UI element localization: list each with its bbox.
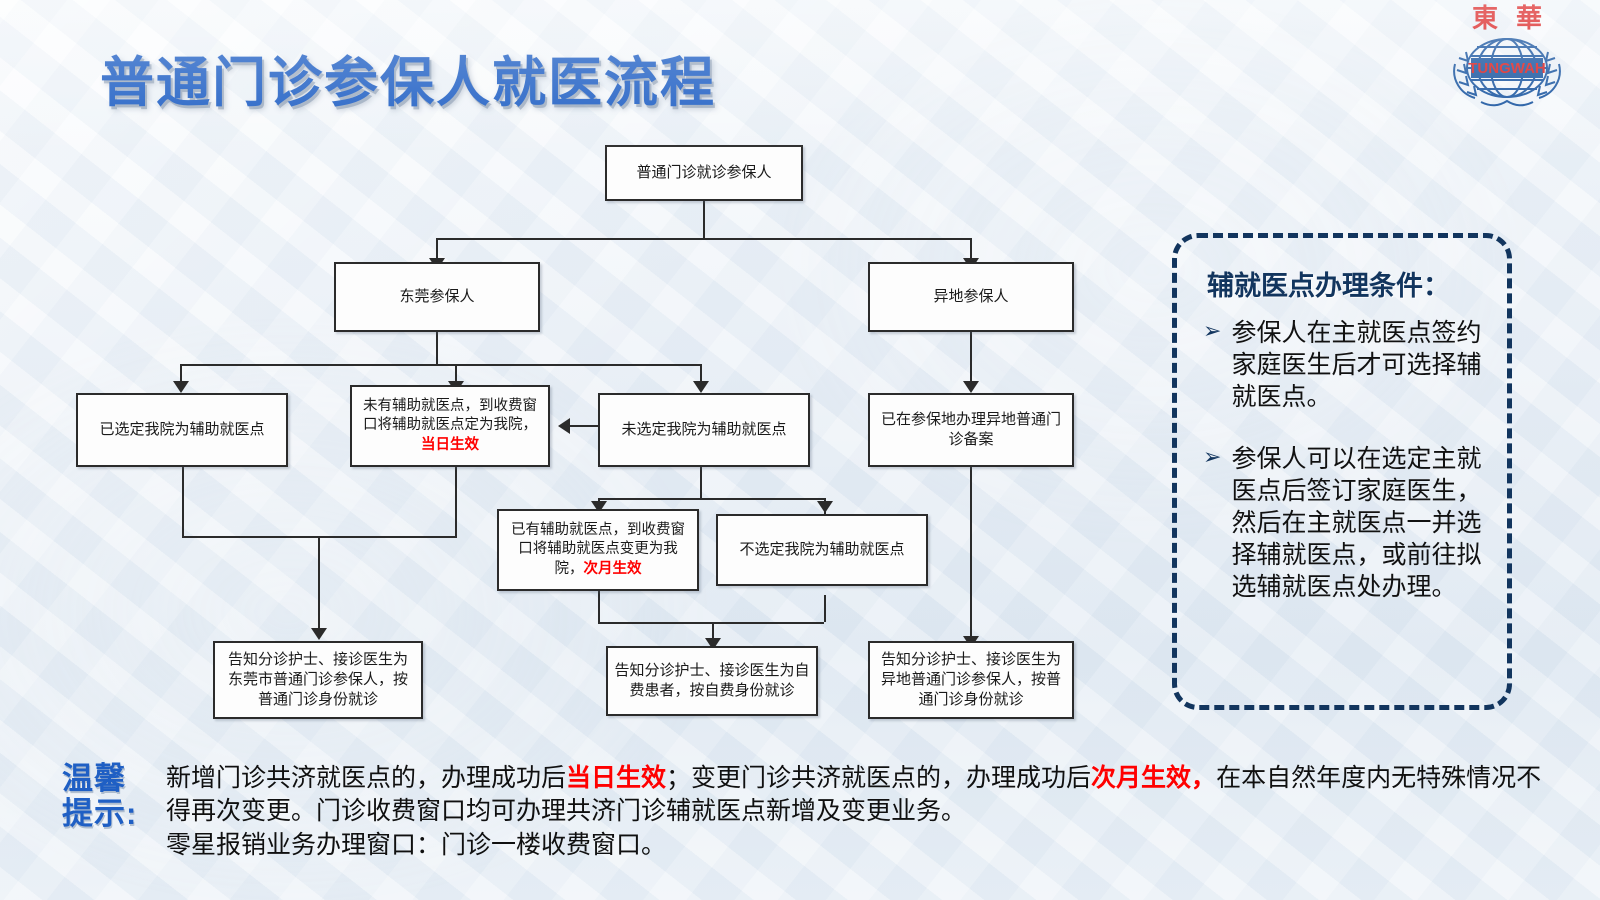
conditions-bullet-item: ➢ 参保人可以在选定主就医点后签订家庭医生，然后在主就医点一并选择辅就医点，或前…: [1203, 443, 1493, 603]
footer-note-body: 新增门诊共济就医点的，办理成功后当日生效；变更门诊共济就医点的，办理成功后次月生…: [166, 762, 1562, 862]
footer-note-label-line1: 温馨: [62, 762, 166, 797]
flow-node-root[interactable]: 普通门诊就诊参保人: [605, 145, 803, 201]
footer-note: 温馨 提示: 新增门诊共济就医点的，办理成功后当日生效；变更门诊共济就医点的，办…: [62, 762, 1562, 862]
flow-node-label: 异地参保人: [933, 287, 1008, 307]
flow-node-label: 已有辅助就医点，到收费窗口将辅助就医点变更为我院，次月生效: [505, 521, 691, 580]
flow-node-not-selected-our-hospital[interactable]: 未选定我院为辅助就医点: [598, 393, 810, 467]
flow-node-dongguan-insured[interactable]: 东莞参保人: [334, 262, 540, 332]
flow-node-label: 告知分诊护士、接诊医生为异地普通门诊参保人，按普通门诊身份就诊: [876, 650, 1066, 711]
bullet-arrow-icon: ➢: [1203, 317, 1221, 413]
flow-node-no-aux-set-today[interactable]: 未有辅助就医点，到收费窗口将辅助就医点定为我院，当日生效: [350, 385, 550, 467]
flow-node-label: 已在参保地办理异地普通门诊备案: [876, 410, 1066, 451]
conditions-bullet-text: 参保人可以在选定主就医点后签订家庭医生，然后在主就医点一并选择辅就医点，或前往拟…: [1231, 443, 1493, 603]
flow-node-not-choose-our-hospital[interactable]: 不选定我院为辅助就医点: [716, 514, 928, 586]
flow-node-label: 告知分诊护士、接诊医生为自费患者，按自费身份就诊: [614, 661, 810, 702]
flow-node-label: 普通门诊就诊参保人: [636, 163, 771, 183]
footer-note-seg2: ；变更门诊共济就医点的，办理成功后: [666, 764, 1091, 792]
flow-node-label: 不选定我院为辅助就医点: [739, 540, 904, 560]
flow-node-label: 东莞参保人: [399, 287, 474, 307]
slide-canvas: 普通门诊参保人就医流程 東華 TUNGWAH: [0, 0, 1600, 900]
flow-node-has-aux-change-next-month[interactable]: 已有辅助就医点，到收费窗口将辅助就医点变更为我院，次月生效: [497, 509, 699, 591]
footer-note-red1: 当日生效: [566, 764, 666, 792]
footer-note-line3: 零星报销业务办理窗口：门诊一楼收费窗口。: [166, 829, 1562, 862]
conditions-bullet-text: 参保人在主就医点签约家庭医生后才可选择辅就医点。: [1231, 317, 1493, 413]
footer-note-label: 温馨 提示:: [62, 762, 166, 831]
flow-node-label: 未有辅助就医点，到收费窗口将辅助就医点定为我院，当日生效: [358, 397, 542, 456]
footer-note-label-line2: 提示:: [62, 797, 166, 832]
conditions-panel-heading: 辅就医点办理条件：: [1207, 264, 1493, 303]
footer-note-red2: 次月生效，: [1091, 764, 1216, 792]
flow-node-inform-offsite-outpatient[interactable]: 告知分诊护士、接诊医生为异地普通门诊参保人，按普通门诊身份就诊: [868, 641, 1074, 719]
flow-node-offsite-insured[interactable]: 异地参保人: [868, 262, 1074, 332]
flow-node-label: 告知分诊护士、接诊医生为东莞市普通门诊参保人，按普通门诊身份就诊: [221, 650, 415, 711]
flow-node-label: 已选定我院为辅助就医点: [99, 420, 264, 440]
flow-node-label: 未选定我院为辅助就医点: [621, 420, 786, 440]
footer-note-seg1: 新增门诊共济就医点的，办理成功后: [166, 764, 566, 792]
conditions-bullet-item: ➢ 参保人在主就医点签约家庭医生后才可选择辅就医点。: [1203, 317, 1493, 413]
flow-node-inform-dongguan-outpatient[interactable]: 告知分诊护士、接诊医生为东莞市普通门诊参保人，按普通门诊身份就诊: [213, 641, 423, 719]
flow-node-offsite-filed[interactable]: 已在参保地办理异地普通门诊备案: [868, 393, 1074, 467]
footer-note-paragraph: 新增门诊共济就医点的，办理成功后当日生效；变更门诊共济就医点的，办理成功后次月生…: [166, 762, 1562, 829]
conditions-panel: 辅就医点办理条件： ➢ 参保人在主就医点签约家庭医生后才可选择辅就医点。 ➢ 参…: [1172, 233, 1512, 710]
flow-node-selected-our-hospital[interactable]: 已选定我院为辅助就医点: [76, 393, 288, 467]
bullet-arrow-icon: ➢: [1203, 443, 1221, 603]
flow-node-highlight: 当日生效: [421, 437, 479, 453]
flow-node-highlight: 次月生效: [584, 561, 642, 577]
flow-node-inform-self-pay[interactable]: 告知分诊护士、接诊医生为自费患者，按自费身份就诊: [606, 646, 818, 716]
